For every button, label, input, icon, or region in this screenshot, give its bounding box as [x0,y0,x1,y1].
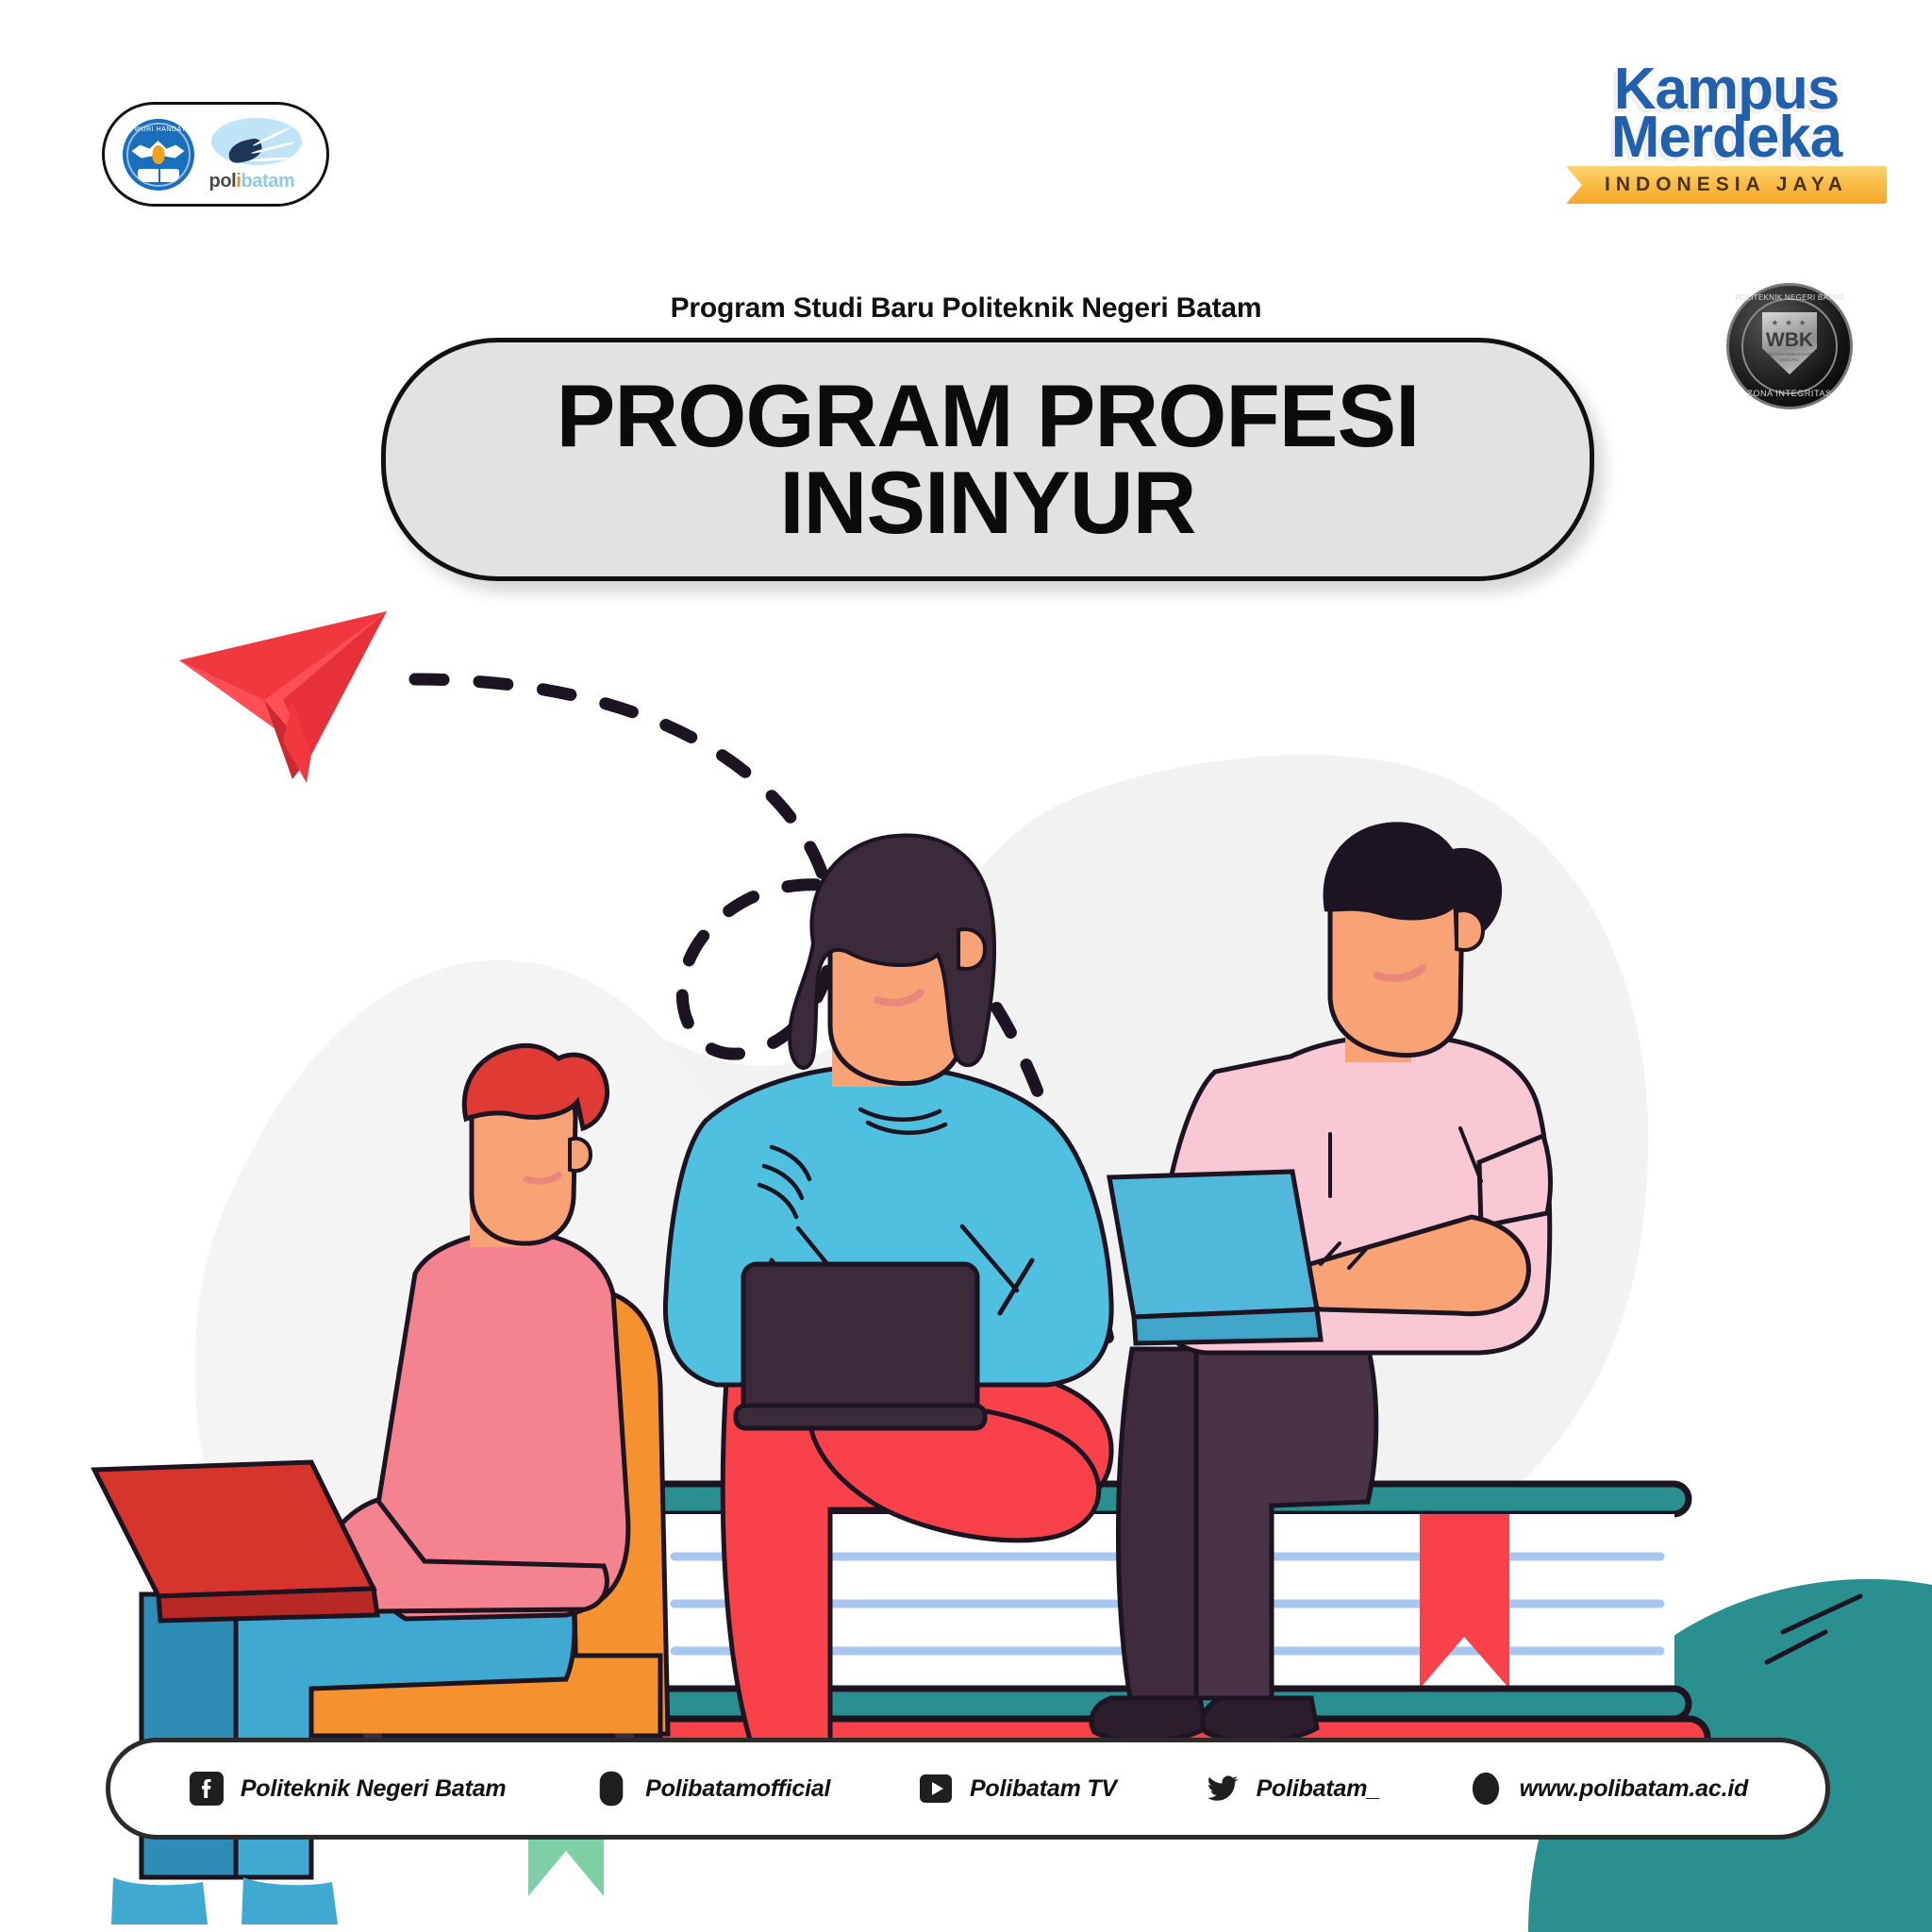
laptop-right [1109,1172,1321,1343]
instagram-icon [592,1770,630,1807]
social-footer-bar: Politeknik Negeri Batam Polibatamofficia… [106,1738,1830,1840]
polibatam-wordmark: polibatam [209,171,315,192]
title-pill: PROGRAM PROFESI INSINYUR [381,338,1594,581]
illustration-scene [0,0,1932,1932]
social-label-facebook: Politeknik Negeri Batam [241,1775,507,1803]
social-item-instagram[interactable]: Polibatamofficial [592,1770,830,1807]
social-label-website: www.polibatam.ac.id [1520,1775,1749,1803]
social-label-instagram: Polibatamofficial [645,1775,830,1803]
wbk-stars: ★ ★ ★ [1762,318,1817,328]
youtube-icon [917,1770,955,1807]
kampus-merdeka-line2: Merdeka [1566,110,1887,164]
wbk-bottom-arc: ZONA INTEGRITAS [1729,389,1850,398]
wbk-top-arc: POLITEKNIK NEGERI BATAM [1729,293,1850,302]
laptop-center [736,1264,985,1428]
globe-icon [1467,1770,1505,1807]
page-title: PROGRAM PROFESI INSINYUR [534,373,1442,546]
poster-subtitle: Program Studi Baru Politeknik Negeri Bat… [0,292,1932,325]
social-label-youtube: Polibatam TV [970,1775,1117,1803]
kampus-merdeka-logo: Kampus Merdeka INDONESIA JAYA [1566,62,1887,204]
social-label-twitter: Polibatam_ [1257,1775,1380,1803]
kampus-merdeka-ribbon: INDONESIA JAYA [1566,166,1887,204]
polibatam-logo: polibatam [204,118,309,192]
social-item-twitter[interactable]: Polibatam_ [1204,1770,1380,1807]
social-item-youtube[interactable]: Polibatam TV [917,1770,1117,1807]
tut-wuri-handayani-icon: TUT WURI HANDAYANI [123,119,194,191]
social-item-website[interactable]: www.polibatam.ac.id [1467,1770,1749,1807]
wbk-center-text: WBK [1762,329,1817,352]
title-line-2: INSINYUR [779,453,1195,552]
institution-logo-pill: TUT WURI HANDAYANI polibatam [102,102,329,207]
poster-canvas: TUT WURI HANDAYANI polibatam Kampus Merd… [0,0,1932,1932]
facebook-icon [188,1770,225,1807]
title-line-1: PROGRAM PROFESI [557,366,1420,465]
paper-plane-icon [179,611,387,783]
twitter-icon [1204,1770,1241,1807]
social-item-facebook[interactable]: Politeknik Negeri Batam [188,1770,507,1807]
wbk-zona-integritas-badge: POLITEKNIK NEGERI BATAM ★ ★ ★ WBK WILAYA… [1726,283,1853,409]
tut-wuri-arc-text: TUT WURI HANDAYANI [118,126,198,133]
